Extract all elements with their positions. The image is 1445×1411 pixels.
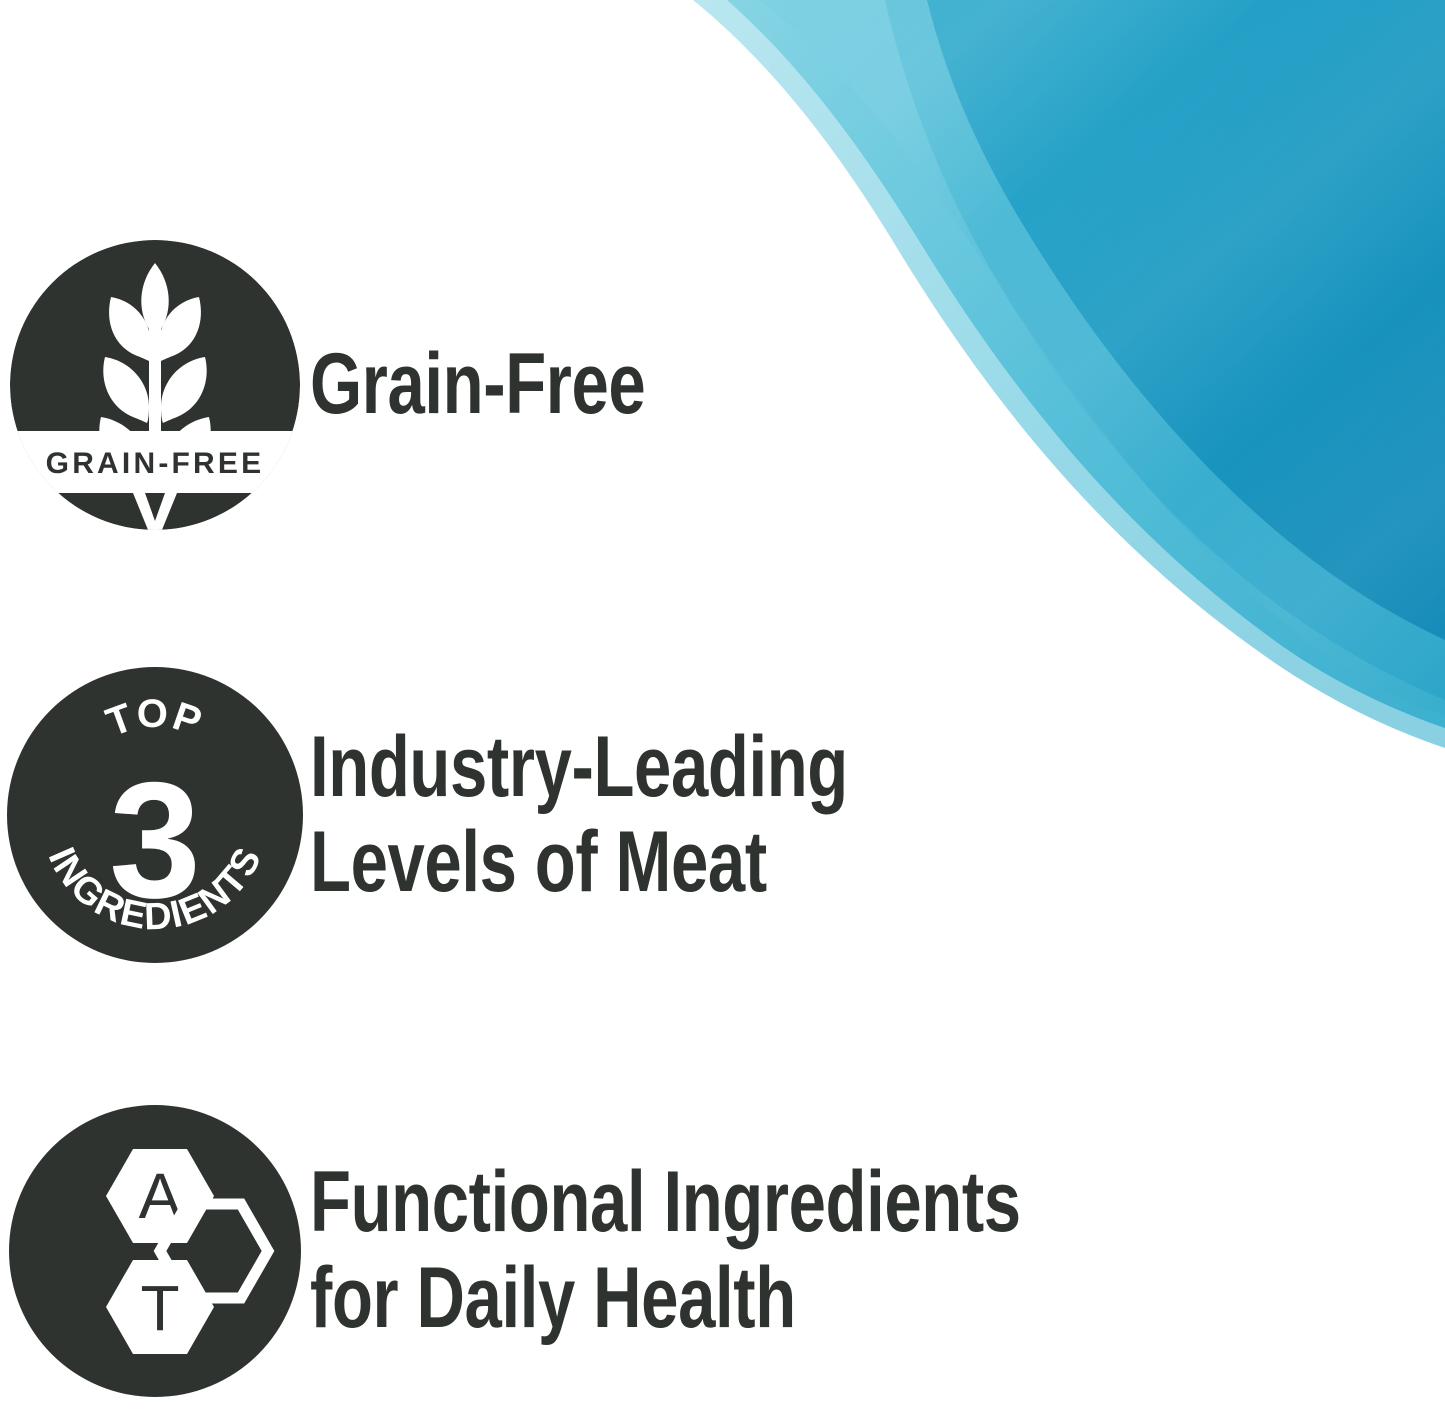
badge-grain-free-wrap: GRAIN-FREE	[0, 235, 310, 535]
badge-functional-ingredients-wrap: A T	[0, 1101, 310, 1401]
hexagon-label-t: T	[140, 1272, 179, 1344]
feature-heading-industry-leading: Industry-Leading Levels of Meat	[310, 720, 1082, 911]
grain-free-badge-label: GRAIN-FREE	[46, 447, 265, 480]
badge-top-3-wrap: TOP 3 INGREDIENTS	[0, 665, 310, 965]
feature-row-grain-free: GRAIN-FREE Grain-Free	[0, 230, 1300, 540]
top-3-ingredients-badge-icon: TOP 3 INGREDIENTS	[5, 665, 305, 965]
feature-heading-grain-free: Grain-Free	[310, 337, 1082, 432]
feature-heading-functional-ingredients: Functional Ingredients for Daily Health	[310, 1155, 1082, 1346]
functional-ingredients-hexagon-badge-icon: A T	[5, 1101, 305, 1401]
product-feature-panel: GRAIN-FREE Grain-Free TOP 3 INGREDIENTS	[0, 0, 1445, 1411]
feature-row-top-3-ingredients: TOP 3 INGREDIENTS Industry-Leading Level…	[0, 655, 1300, 975]
feature-row-functional-ingredients: A T Functional Ingredients for Daily Hea…	[0, 1090, 1300, 1411]
grain-free-wheat-badge-icon: GRAIN-FREE	[5, 235, 305, 535]
